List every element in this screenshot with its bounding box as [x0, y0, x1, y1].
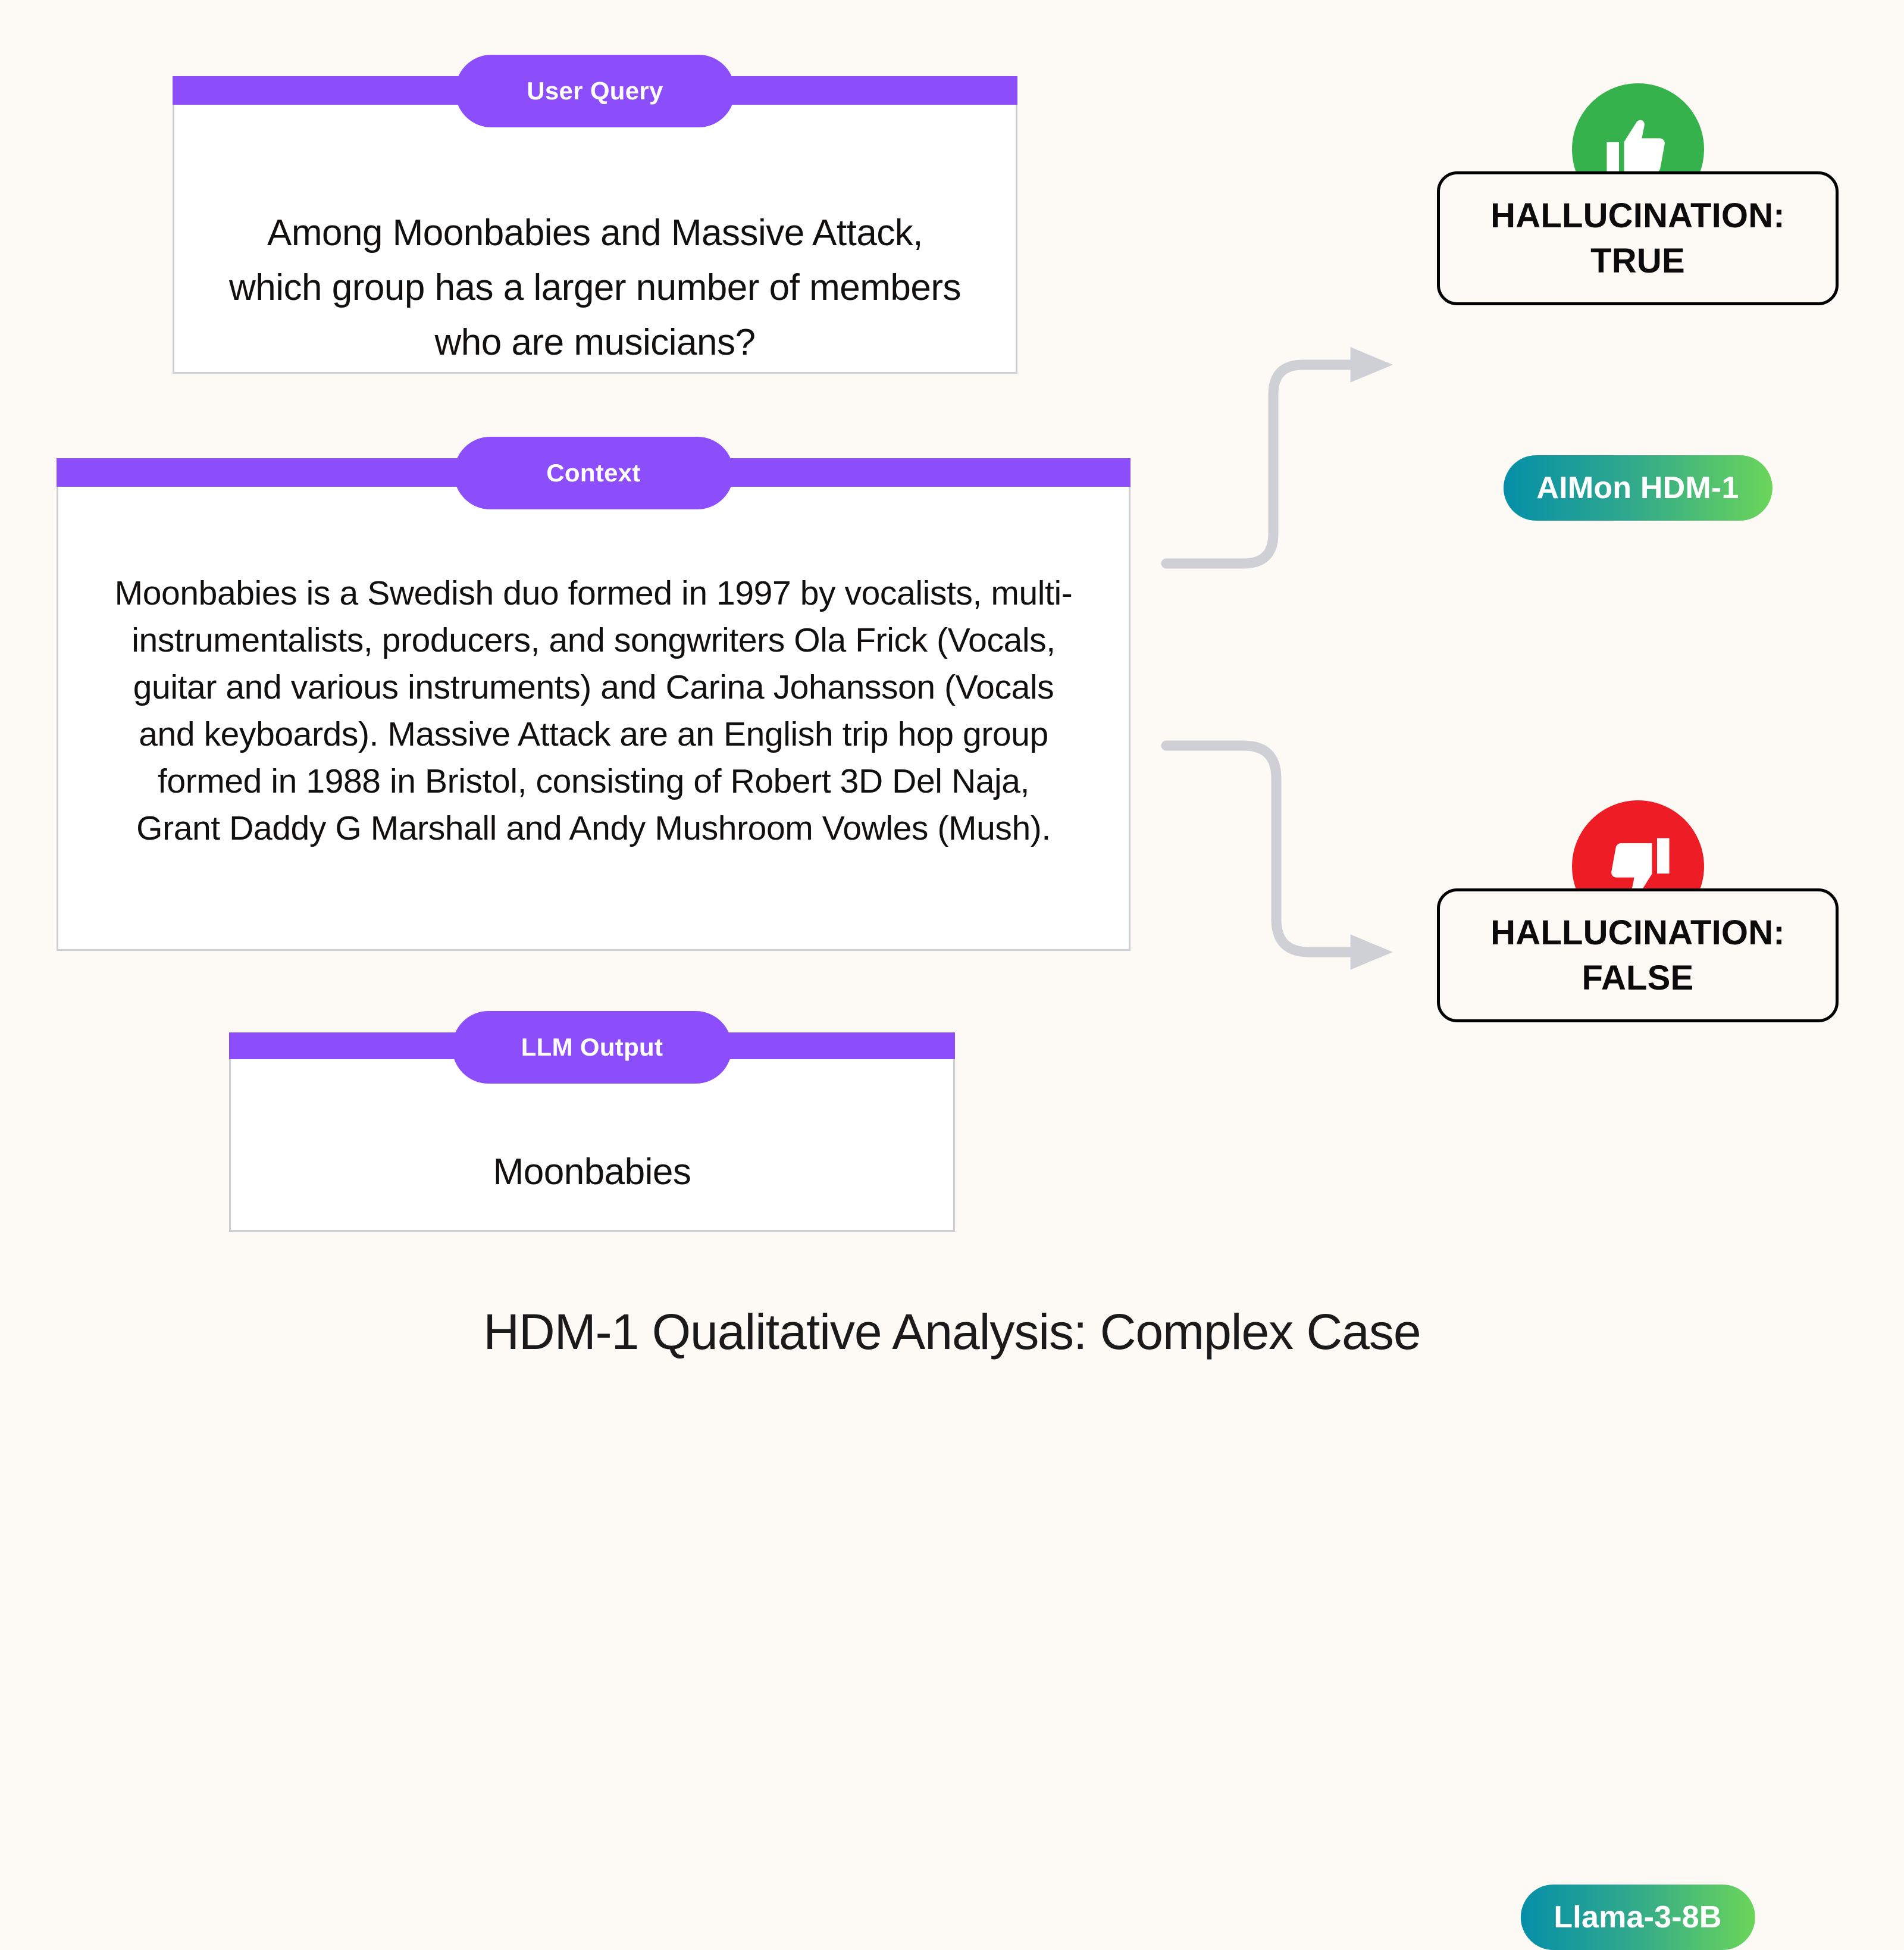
user-query-text: Among Moonbabies and Massive Attack, whi…	[174, 206, 1016, 370]
diagram-canvas: User Query Among Moonbabies and Massive …	[0, 0, 1904, 1428]
verdict-false-box: HALLUCINATION: FALSE	[1437, 888, 1839, 1022]
llm-output-text: Moonbabies	[231, 1148, 953, 1196]
context-body: Moonbabies is a Swedish duo formed in 19…	[57, 487, 1130, 951]
user-query-label: User Query	[455, 55, 735, 127]
verdict-true-label: HALLUCINATION: TRUE	[1452, 193, 1824, 284]
model-badge-llama: Llama-3-8B	[1520, 1885, 1755, 1950]
llm-output-panel: LLM Output Moonbabies	[229, 1032, 955, 1232]
context-panel: Context Moonbabies is a Swedish duo form…	[57, 458, 1130, 951]
context-text: Moonbabies is a Swedish duo formed in 19…	[58, 570, 1129, 852]
model-badge-aimon: AIMon HDM-1	[1503, 455, 1772, 521]
verdict-false-label: HALLUCINATION: FALSE	[1452, 910, 1824, 1001]
llm-output-label: LLM Output	[452, 1011, 732, 1084]
llm-output-body: Moonbabies	[229, 1059, 955, 1232]
page-title: HDM-1 Qualitative Analysis: Complex Case	[0, 1303, 1904, 1361]
verdict-true-box: HALLUCINATION: TRUE	[1437, 171, 1839, 305]
arrow-to-false	[1166, 746, 1363, 952]
arrow-to-true	[1166, 365, 1363, 564]
user-query-body: Among Moonbabies and Massive Attack, whi…	[173, 105, 1017, 374]
user-query-panel: User Query Among Moonbabies and Massive …	[173, 76, 1017, 374]
context-label: Context	[454, 437, 734, 509]
